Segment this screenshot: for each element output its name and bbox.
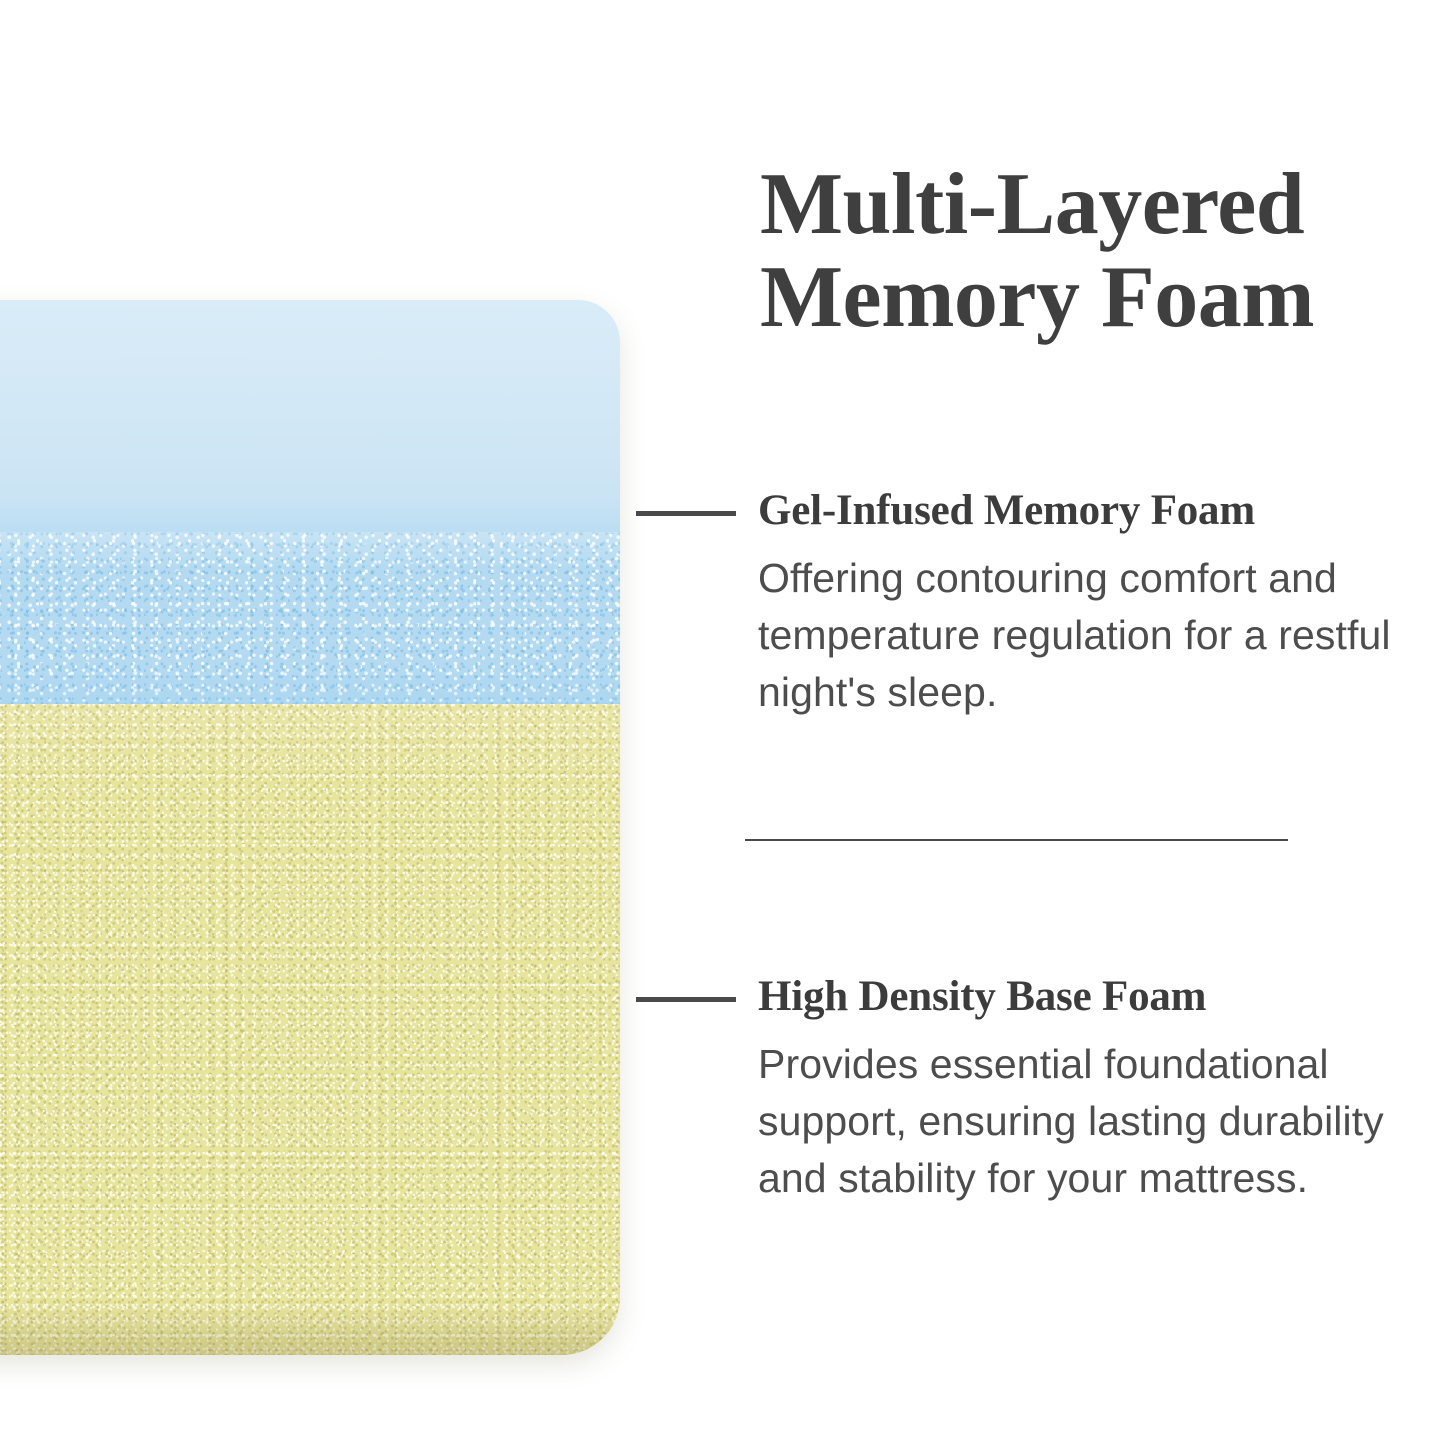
feature-heading-row: High Density Base Foam bbox=[758, 970, 1426, 1024]
foam-layer-gel-infused-memory-foam bbox=[0, 532, 620, 704]
feature-description: Provides essential foundational support,… bbox=[758, 1036, 1430, 1207]
feature-heading-row: Gel-Infused Memory Foam bbox=[758, 484, 1426, 538]
page-title: Multi-LayeredMemory Foam bbox=[760, 158, 1428, 345]
foam-layer-high-density-base-foam bbox=[0, 704, 620, 1355]
foam-layer-gel-top-face bbox=[0, 300, 620, 505]
page-title-line-2: Memory Foam bbox=[760, 249, 1314, 346]
foam-layer-gel-blend bbox=[0, 500, 620, 536]
infographic-canvas: Multi-LayeredMemory Foam Gel-Infused Mem… bbox=[0, 0, 1445, 1445]
feature-title: High Density Base Foam bbox=[758, 970, 1206, 1024]
feature-description: Offering contouring comfort and temperat… bbox=[758, 550, 1418, 721]
text-column: Multi-LayeredMemory Foam Gel-Infused Mem… bbox=[758, 0, 1428, 1445]
leader-dash-icon bbox=[636, 997, 736, 1002]
feature-high-density-base-foam: High Density Base Foam Provides essentia… bbox=[758, 970, 1426, 1207]
leader-dash-icon bbox=[636, 511, 736, 516]
page-title-line-1: Multi-Layered bbox=[760, 156, 1304, 253]
foam-block-illustration bbox=[0, 300, 620, 1355]
feature-gel-infused-memory-foam: Gel-Infused Memory Foam Offering contour… bbox=[758, 484, 1426, 721]
section-divider bbox=[745, 839, 1288, 841]
feature-title: Gel-Infused Memory Foam bbox=[758, 484, 1255, 538]
